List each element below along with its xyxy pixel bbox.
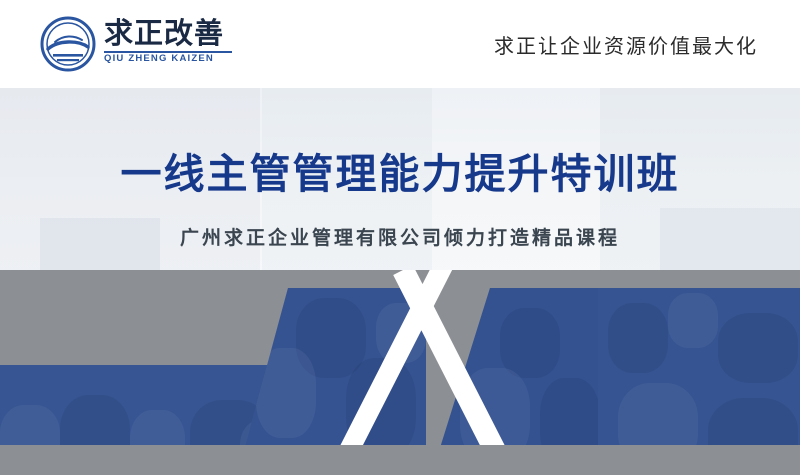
brand-name-en: QIU ZHENG KAIZEN xyxy=(104,53,264,64)
page-subtitle: 广州求正企业管理有限公司倾力打造精品课程 xyxy=(0,223,800,250)
footer-bar xyxy=(0,445,800,475)
circular-emblem-icon xyxy=(40,16,96,72)
header-tagline: 求正让企业资源价值最大化 xyxy=(494,30,758,59)
poster-canvas: 求正改善 QIU ZHENG KAIZEN 求正让企业资源价值最大化 一线主管管… xyxy=(0,0,800,475)
brand-logo: 求正改善 QIU ZHENG KAIZEN xyxy=(40,13,270,75)
page-title: 一线主管管理能力提升特训班 xyxy=(0,140,800,200)
brand-divider xyxy=(104,51,232,53)
brand-name-cn: 求正改善 xyxy=(104,17,264,49)
brand-logo-text: 求正改善 QIU ZHENG KAIZEN xyxy=(104,17,264,64)
